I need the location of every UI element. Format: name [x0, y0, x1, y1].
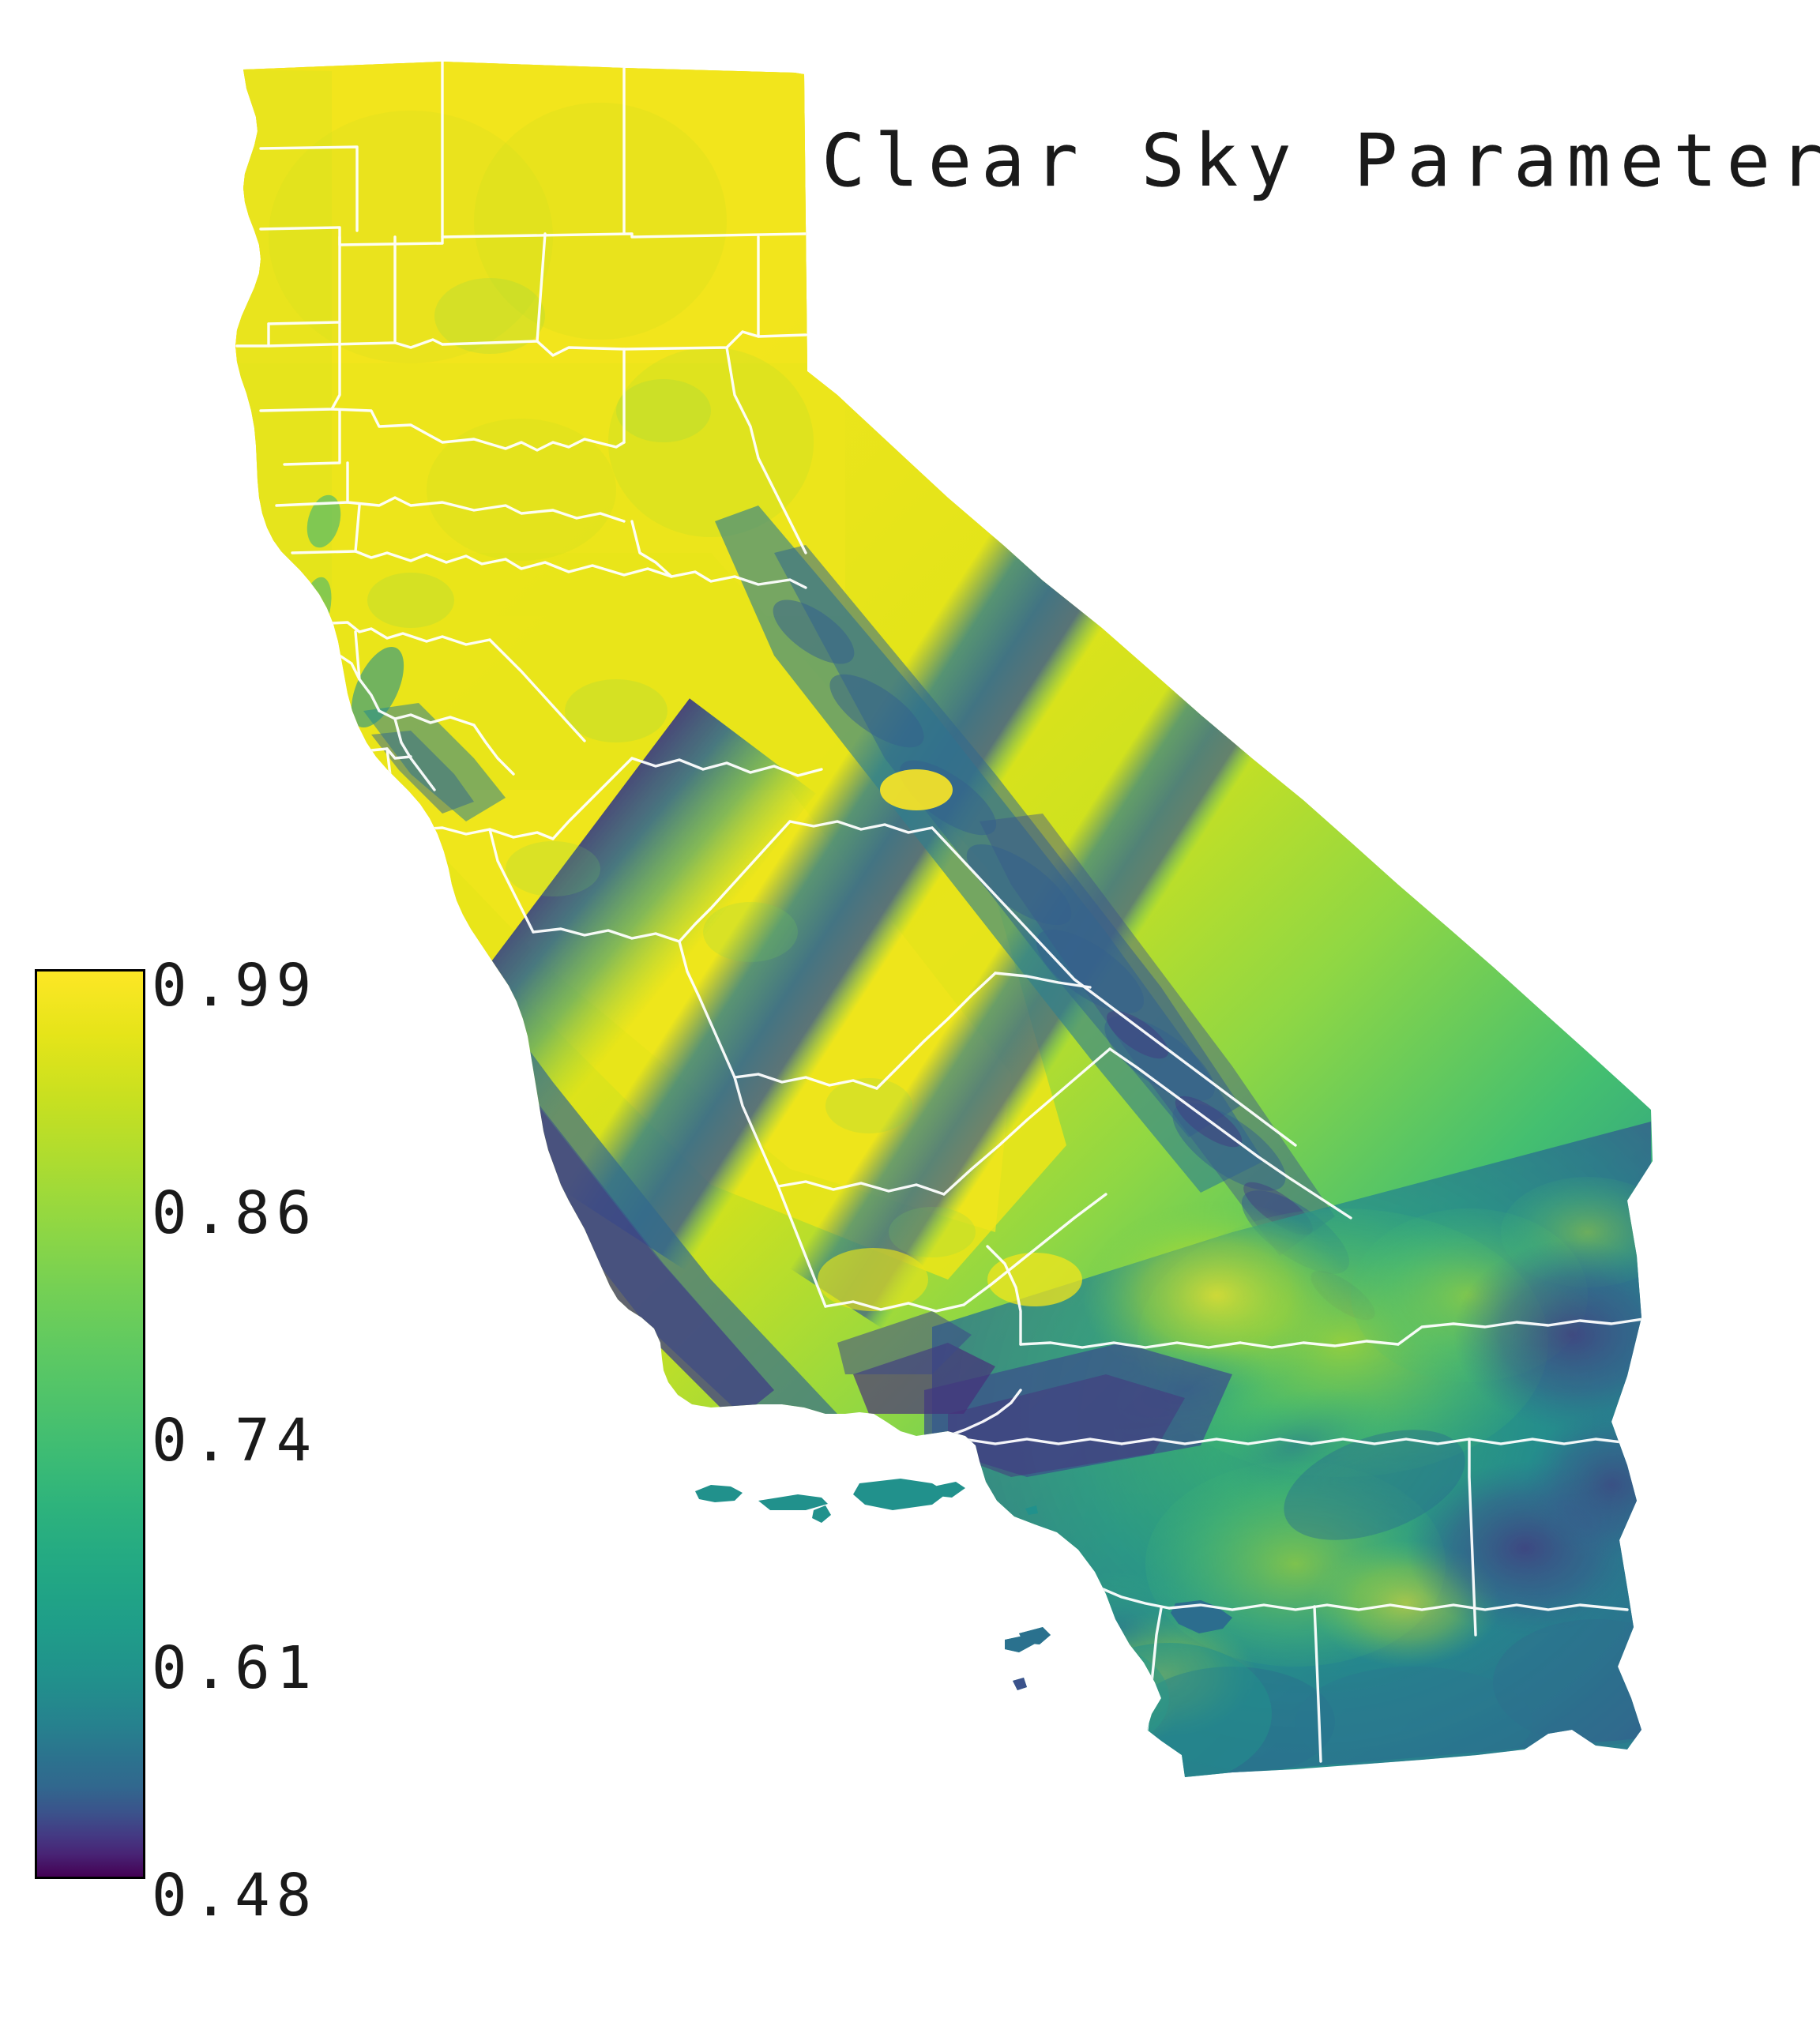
- colorbar-gradient[interactable]: [35, 969, 145, 1879]
- colorbar-tick-4: 0.48: [152, 1862, 318, 1930]
- colorbar[interactable]: 0.99 0.86 0.74 0.61 0.48: [35, 969, 303, 1885]
- figure-canvas: Clear Sky Parameter 0.99 0.86 0.74 0.61 …: [0, 0, 1820, 2022]
- colorbar-tick-2: 0.74: [152, 1407, 318, 1475]
- colorbar-tick-3: 0.61: [152, 1634, 318, 1702]
- colorbar-tick-1: 0.86: [152, 1179, 318, 1247]
- colorbar-tick-0: 0.99: [152, 952, 318, 1020]
- page-title: Clear Sky Parameter: [822, 125, 1801, 197]
